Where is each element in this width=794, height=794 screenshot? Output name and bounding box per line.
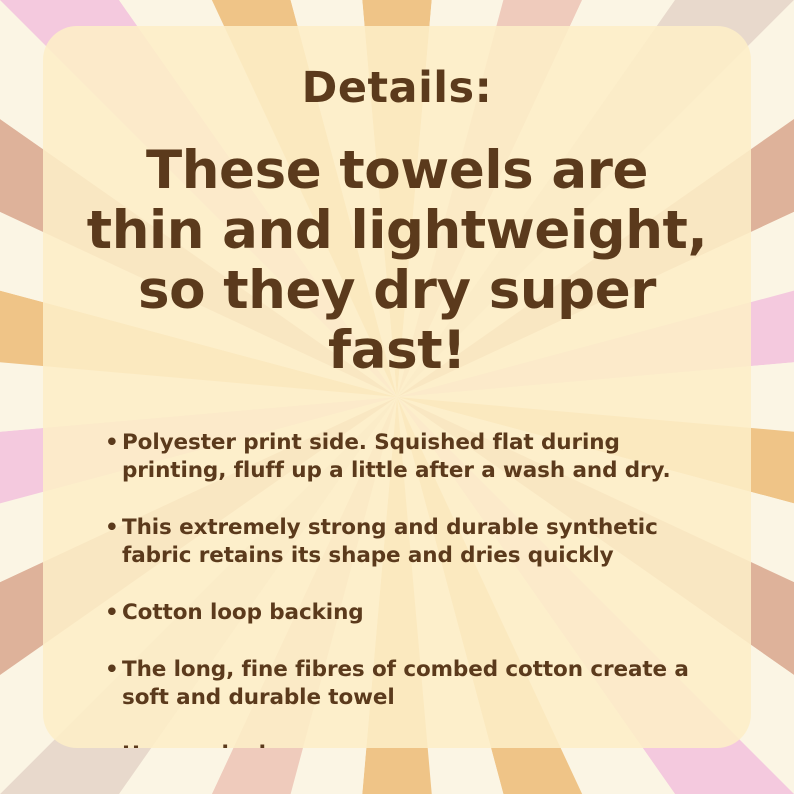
list-item: •This extremely strong and durable synth…: [105, 514, 707, 571]
feature-bullet-list: •Polyester print side. Squished flat dur…: [77, 429, 717, 748]
list-item-label: Hemmed edges: [122, 742, 308, 748]
list-item-label: Cotton loop backing: [122, 600, 364, 625]
bullet-dot-icon: •: [105, 656, 119, 685]
list-item: •Cotton loop backing: [105, 599, 707, 628]
list-item-label: This extremely strong and durable synthe…: [122, 515, 658, 569]
page-title: Details:: [77, 66, 717, 111]
bullet-dot-icon: •: [105, 741, 119, 748]
bullet-dot-icon: •: [105, 514, 119, 543]
poster: Details: These towels are thin and light…: [0, 0, 794, 794]
details-card: Details: These towels are thin and light…: [43, 26, 751, 748]
bullet-dot-icon: •: [105, 429, 119, 458]
list-item: •Polyester print side. Squished flat dur…: [105, 429, 707, 486]
bullet-dot-icon: •: [105, 599, 119, 628]
list-item: •Hemmed edges: [105, 741, 707, 748]
headline-text: These towels are thin and lightweight, s…: [77, 141, 717, 381]
list-item-label: Polyester print side. Squished flat duri…: [122, 430, 671, 484]
list-item-label: The long, fine fibres of combed cotton c…: [122, 657, 689, 711]
list-item: •The long, fine fibres of combed cotton …: [105, 656, 707, 713]
